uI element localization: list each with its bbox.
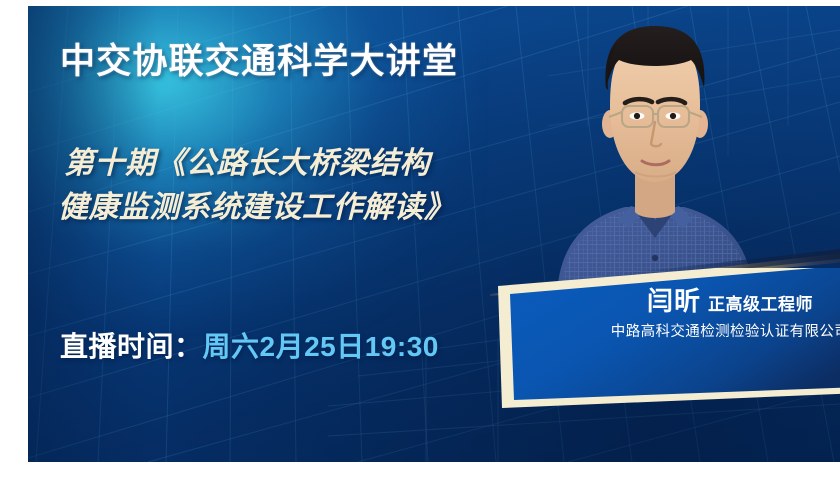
speaker-title: 正高级工程师 bbox=[708, 295, 813, 314]
broadcast-time-row: 直播时间：周六2月25日19:30 bbox=[60, 333, 439, 361]
page-title: 中交协联交通科学大讲堂 bbox=[60, 33, 458, 84]
poster-subtitle: 第十期《公路长大桥梁结构 健康监测系统建设工作解读》 bbox=[64, 142, 594, 229]
speaker-info-panel: 闫昕正高级工程师 中路高科交通检测检验认证有限公司 bbox=[490, 268, 840, 418]
speaker-name: 闫昕 bbox=[647, 286, 701, 316]
poster-canvas: 闫昕正高级工程师 中路高科交通检测检验认证有限公司 中交协联交通科学大讲堂 第十… bbox=[28, 6, 840, 462]
broadcast-time-label: 直播时间： bbox=[60, 331, 203, 362]
broadcast-time-value: 周六2月25日19:30 bbox=[203, 331, 439, 362]
poster-root: 闫昕正高级工程师 中路高科交通检测检验认证有限公司 中交协联交通科学大讲堂 第十… bbox=[0, 0, 840, 480]
speaker-name-row: 闫昕正高级工程师 bbox=[580, 288, 840, 314]
speaker-text-block: 闫昕正高级工程师 中路高科交通检测检验认证有限公司 bbox=[580, 288, 840, 340]
subtitle-line-1: 第十期《公路长大桥梁结构 bbox=[64, 142, 594, 186]
speaker-organization: 中路高科交通检测检验认证有限公司 bbox=[580, 325, 840, 340]
subtitle-line-2: 健康监测系统建设工作解读》 bbox=[58, 186, 594, 230]
